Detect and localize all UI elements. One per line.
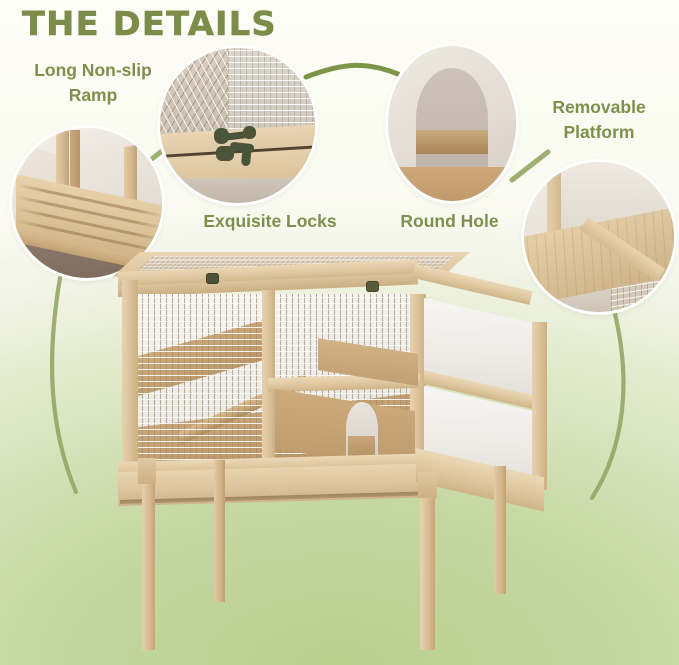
infographic-canvas: THE DETAILS Long Non-slip Ramp Exquisite… [0, 0, 679, 665]
detail-circle-round-hole [388, 46, 516, 201]
hutch-post-rear-right [532, 322, 547, 490]
lock-latch-icon [212, 124, 264, 170]
callout-label-locks: Exquisite Locks [185, 209, 355, 234]
callout-label-ramp: Long Non-slip Ramp [18, 58, 168, 108]
hutch-leg-bracket-right [418, 472, 437, 498]
latch-left-icon[interactable] [206, 273, 219, 284]
hutch-leg-back-right [494, 466, 506, 594]
page-title: THE DETAILS [22, 4, 277, 43]
product-image-hutch [118, 250, 558, 650]
hutch-leg-front-left [142, 472, 155, 650]
hutch-post-front-left [122, 280, 138, 476]
hutch-leg-front-right [420, 488, 435, 650]
callout-label-platform: Removable Platform [524, 95, 674, 145]
latch-right-icon[interactable] [366, 281, 379, 292]
detail-circle-locks [160, 48, 315, 203]
callout-label-hole: Round Hole [382, 209, 517, 234]
hutch-leg-bracket-left [138, 458, 156, 484]
hutch-leg-back-left [214, 460, 225, 602]
